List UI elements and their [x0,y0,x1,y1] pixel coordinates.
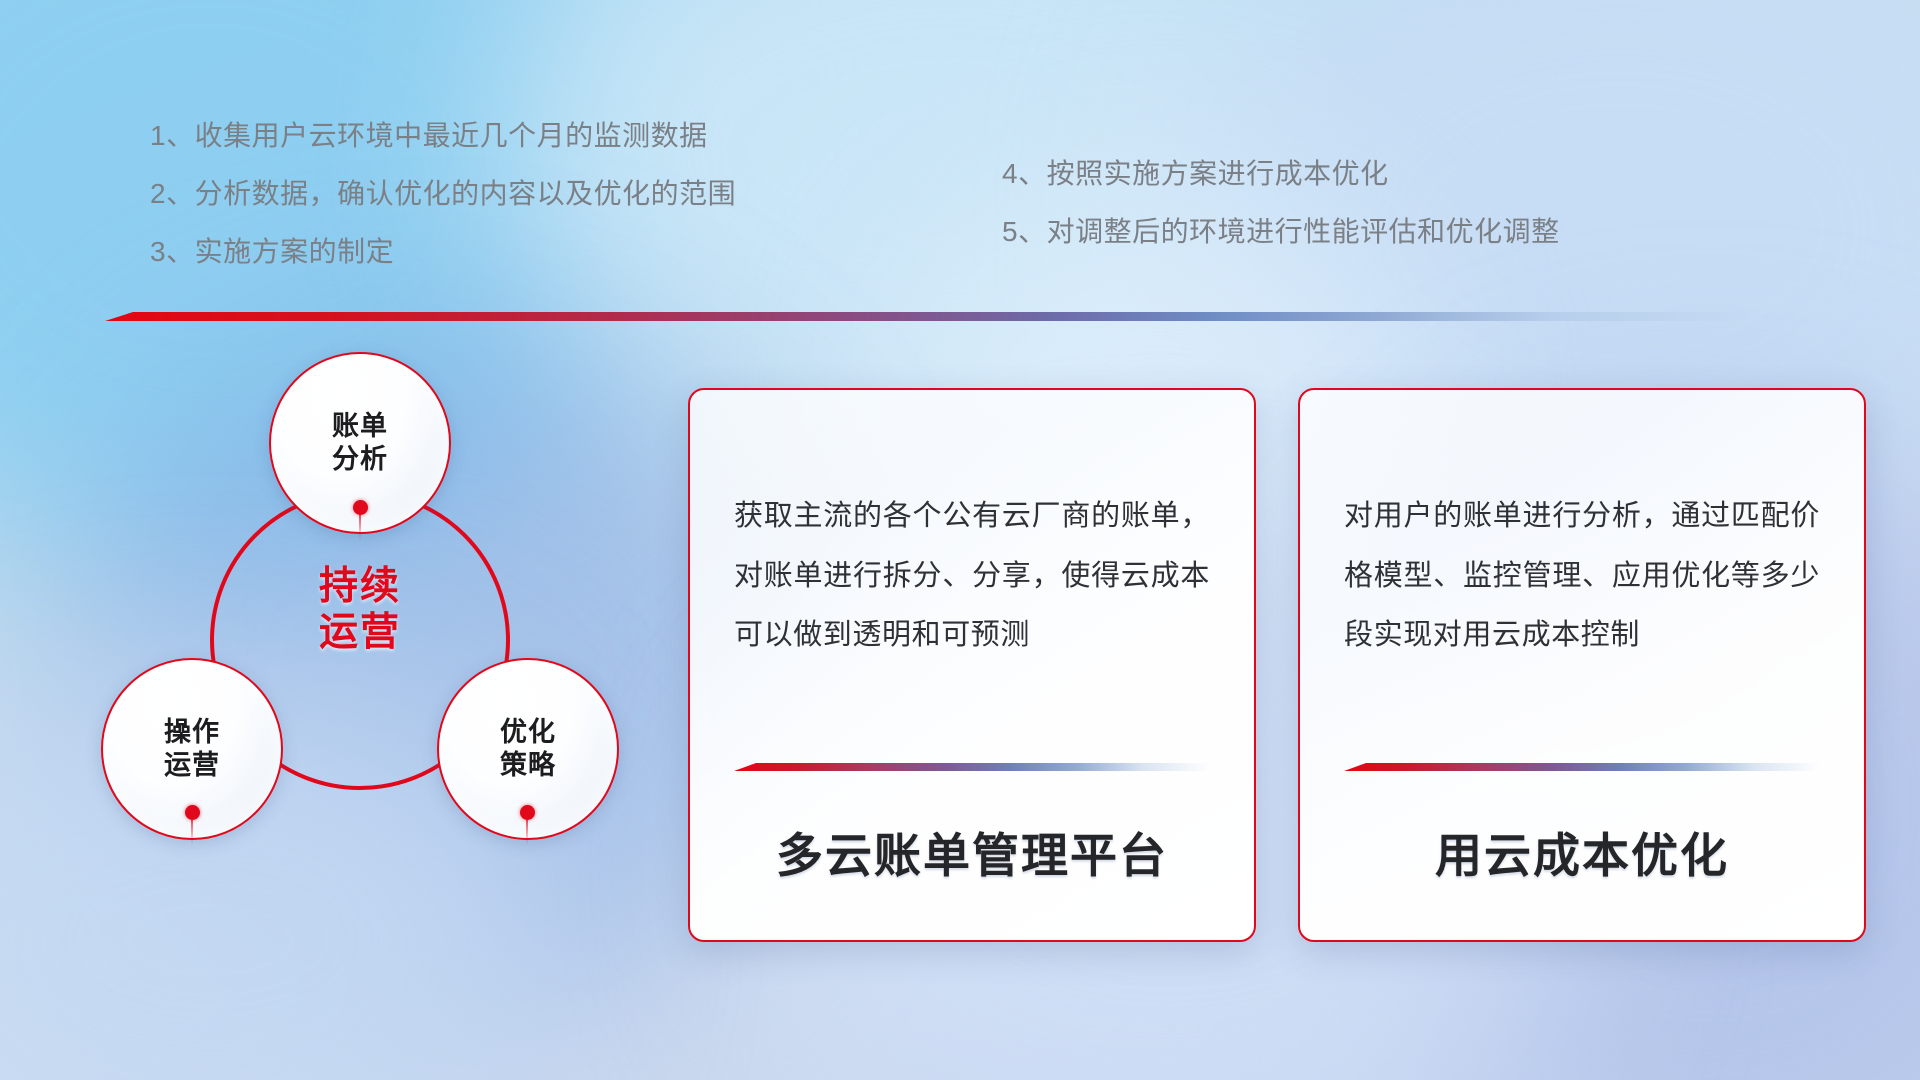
feature-card-2-title: 用云成本优化 [1344,817,1820,886]
venn-lobe-left-label: 操作 运营 [164,716,220,782]
venn-lobe-left-line2: 运营 [164,749,220,782]
venn-center-label-line1: 持续 [210,564,510,610]
venn-lobe-left-line1: 操作 [164,716,220,749]
bullet-item-4: 4、按照实施方案进行成本优化 [1002,160,1560,188]
venn-node-dot-left [185,805,200,820]
feature-card-2-divider [1344,763,1820,771]
bullet-item-1: 1、收集用户云环境中最近几个月的监测数据 [150,122,736,150]
feature-card-cost-optimization[interactable]: 对用户的账单进行分析，通过匹配价格模型、监控管理、应用优化等多少段实现对用云成本… [1298,388,1866,942]
feature-card-1-title: 多云账单管理平台 [734,817,1210,886]
venn-node-tail-top [359,514,361,540]
section-divider-line [105,312,1785,321]
venn-center-label: 持续 运营 [210,564,510,656]
venn-lobe-top-line2: 分析 [332,443,388,476]
bullet-list-left: 1、收集用户云环境中最近几个月的监测数据 2、分析数据，确认优化的内容以及优化的… [150,122,736,296]
venn-lobe-top-line1: 账单 [332,410,388,443]
feature-card-1-divider [734,763,1210,771]
venn-node-dot-right [520,805,535,820]
feature-card-1-description: 获取主流的各个公有云厂商的账单，对账单进行拆分、分享，使得云成本可以做到透明和可… [734,390,1210,763]
venn-lobe-right-label: 优化 策略 [500,716,556,782]
feature-card-multicloud-billing[interactable]: 获取主流的各个公有云厂商的账单，对账单进行拆分、分享，使得云成本可以做到透明和可… [688,388,1256,942]
slide-canvas: 1、收集用户云环境中最近几个月的监测数据 2、分析数据，确认优化的内容以及优化的… [0,0,1920,1080]
venn-lobe-right-line2: 策略 [500,749,556,782]
bullet-item-3: 3、实施方案的制定 [150,238,736,266]
venn-node-dot-top [353,500,368,515]
bullet-item-5: 5、对调整后的环境进行性能评估和优化调整 [1002,218,1560,246]
venn-node-tail-right [526,819,528,845]
venn-diagram: 持续 运营 账单 分析 操作 运营 优化 策略 [95,340,625,970]
bullet-list-right: 4、按照实施方案进行成本优化 5、对调整后的环境进行性能评估和优化调整 [1002,160,1560,276]
venn-center-label-line2: 运营 [210,610,510,656]
venn-lobe-right-line1: 优化 [500,716,556,749]
feature-card-2-description: 对用户的账单进行分析，通过匹配价格模型、监控管理、应用优化等多少段实现对用云成本… [1344,390,1820,763]
venn-lobe-top-label: 账单 分析 [332,410,388,476]
bullet-item-2: 2、分析数据，确认优化的内容以及优化的范围 [150,180,736,208]
venn-node-tail-left [191,819,193,845]
